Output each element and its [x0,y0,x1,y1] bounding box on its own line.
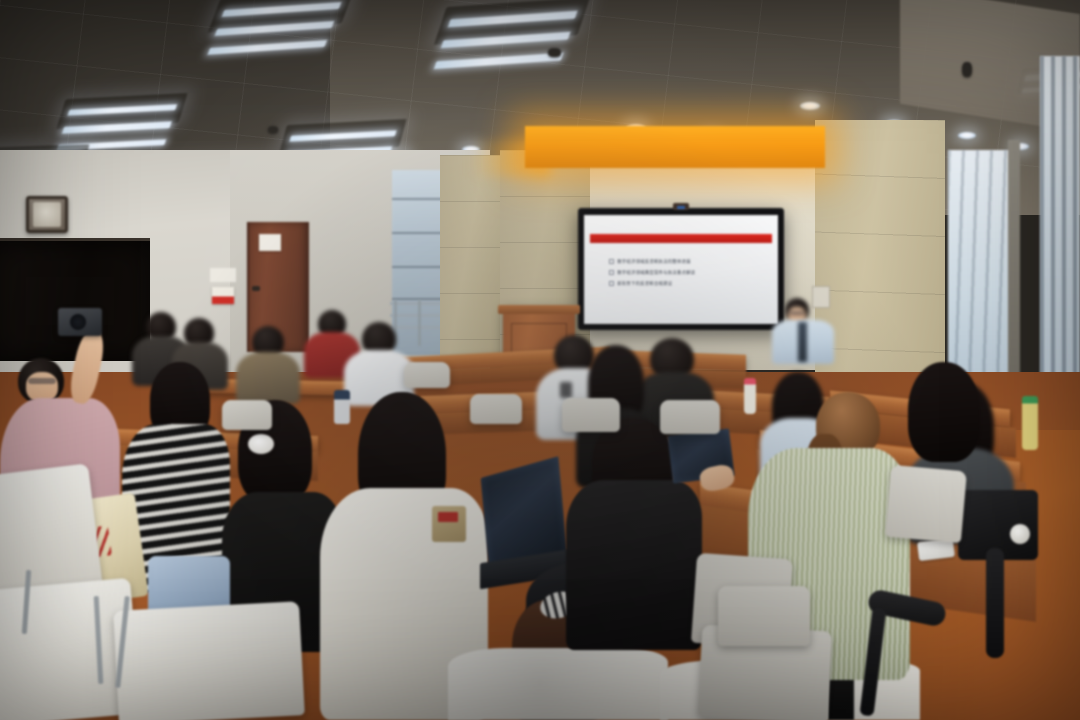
chair[interactable] [470,394,522,424]
window-mullion [1008,140,1020,405]
slide-bullet-text: 新形势下的反垄断合规建议 [617,281,672,287]
vertical-blinds [1040,56,1080,386]
list-item: 数字经济领域典型案件与执法重点解读 [609,270,766,276]
hair-scrunchie [248,434,274,454]
chair[interactable] [113,601,305,720]
glasses-icon [28,378,56,384]
chair[interactable] [404,362,450,388]
door-notice [259,234,281,251]
presenter-tie [798,322,807,362]
pouch-logo [438,512,458,522]
bag-strap [986,548,1004,658]
thermos-cup[interactable] [334,390,350,424]
attendee-tablet-body [566,480,702,650]
wall-clock [26,196,68,233]
slide-bullet-list: 数字经济领域反垄断执法的整体进展 数字经济领域典型案件与执法重点解读 新形势下的… [609,259,766,292]
attendee-cap-body [448,648,668,720]
glasses-icon [789,311,805,315]
camera-lens-icon [70,314,86,330]
chair[interactable] [660,400,720,434]
list-item: 新形势下的反垄断合规建议 [609,281,766,287]
slide-content: 数字经济领域反垄断执法的整体进展 数字经济领域典型案件与执法重点解读 新形势下的… [584,215,778,324]
shirt-graphic [560,382,572,398]
red-wall-sign [212,287,234,304]
list-item: 数字经济领域反垄断执法的整体进展 [609,259,766,265]
door-knob[interactable] [252,286,260,291]
chair[interactable] [885,465,967,543]
chair[interactable] [562,398,620,432]
vertical-blinds [948,150,1012,400]
recessed-downlight [958,132,976,139]
chair[interactable] [718,586,810,646]
slide-bullet-text: 数字经济领域反垄断执法的整体进展 [617,259,690,265]
lecture-hall-photo: 数字经济领域反垄断执法的整体进展 数字经济领域典型案件与执法重点解读 新形势下的… [0,0,1080,720]
wood-panel-wall [440,155,502,365]
bullet-icon [609,281,614,286]
ceiling-sensor [548,48,561,57]
blackboard [0,238,150,361]
water-bottle[interactable] [1022,396,1038,450]
fluorescent-troffer [434,0,590,45]
slide-bullet-text: 数字经济领域典型案件与执法重点解读 [617,270,695,276]
ceiling-sensor [268,126,278,133]
wall-control-panel[interactable] [812,286,830,308]
ceiling-mount [962,62,972,77]
water-bottle[interactable] [744,378,756,414]
wall-notice [210,268,236,282]
bag-charm [1010,524,1030,544]
presentation-display[interactable]: 数字经济领域反垄断执法的整体进展 数字经济领域典型案件与执法重点解读 新形势下的… [578,208,784,330]
fluorescent-troffer [56,93,187,129]
bullet-icon [609,259,614,264]
display-camera-icon [673,203,689,210]
recessed-downlight [800,102,820,110]
orange-cove-light [525,126,825,168]
bullet-icon [609,270,614,275]
chair[interactable] [222,400,272,430]
attendee-hair [908,362,980,462]
slide-accent-bar [590,234,772,244]
attendee-body [236,352,300,404]
fluorescent-troffer [279,119,406,153]
